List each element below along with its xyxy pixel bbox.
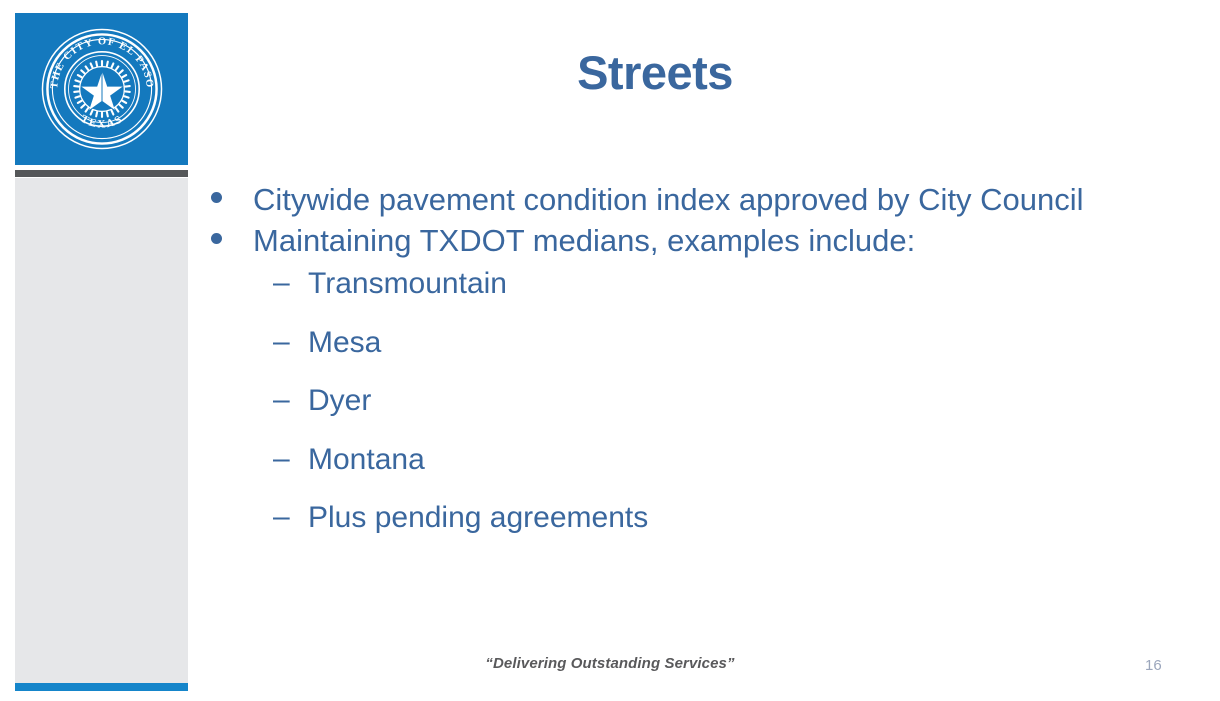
bullet-dash-icon: –	[273, 499, 290, 536]
branding-rail: THE CITY OF EL PASO TEXAS	[15, 13, 188, 690]
bullet-dot-icon	[211, 233, 222, 244]
sub-bullet-text: Plus pending agreements	[308, 500, 1180, 537]
list-item: – Transmountain	[253, 266, 1180, 303]
page-number: 16	[1145, 657, 1185, 674]
logo-panel: THE CITY OF EL PASO TEXAS	[15, 13, 188, 165]
star-icon	[80, 71, 122, 111]
bullet-dash-icon: –	[273, 324, 290, 361]
bullet-dash-icon: –	[273, 382, 290, 419]
bullet-dash-icon: –	[273, 441, 290, 478]
slide-body: Citywide pavement condition index approv…	[205, 180, 1180, 559]
page-title: Streets	[220, 46, 1090, 100]
bullet-text: Citywide pavement condition index approv…	[253, 180, 1180, 219]
bullet-list: Citywide pavement condition index approv…	[205, 180, 1180, 537]
rail-divider	[15, 170, 188, 177]
list-item: – Montana	[253, 442, 1180, 479]
list-item: Maintaining TXDOT medians, examples incl…	[205, 221, 1180, 537]
bullet-dot-icon	[211, 192, 222, 203]
slide-canvas: THE CITY OF EL PASO TEXAS Streets Citywi…	[0, 0, 1220, 701]
sub-bullet-text: Mesa	[308, 325, 1180, 362]
city-of-el-paso-seal-icon: THE CITY OF EL PASO TEXAS	[40, 27, 164, 151]
sub-bullet-list: – Transmountain – Mesa – Dyer – Montana	[253, 266, 1180, 537]
bullet-text: Maintaining TXDOT medians, examples incl…	[253, 221, 1180, 260]
list-item: – Plus pending agreements	[253, 500, 1180, 537]
list-item: – Dyer	[253, 383, 1180, 420]
sidebar-panel	[15, 178, 188, 683]
list-item: – Mesa	[253, 325, 1180, 362]
sub-bullet-text: Montana	[308, 442, 1180, 479]
rail-bottom-accent-bar	[15, 683, 188, 691]
bullet-dash-icon: –	[273, 265, 290, 302]
footer-tagline: “Delivering Outstanding Services”	[0, 655, 1220, 672]
sub-bullet-text: Transmountain	[308, 266, 1180, 303]
sub-bullet-text: Dyer	[308, 383, 1180, 420]
list-item: Citywide pavement condition index approv…	[205, 180, 1180, 219]
